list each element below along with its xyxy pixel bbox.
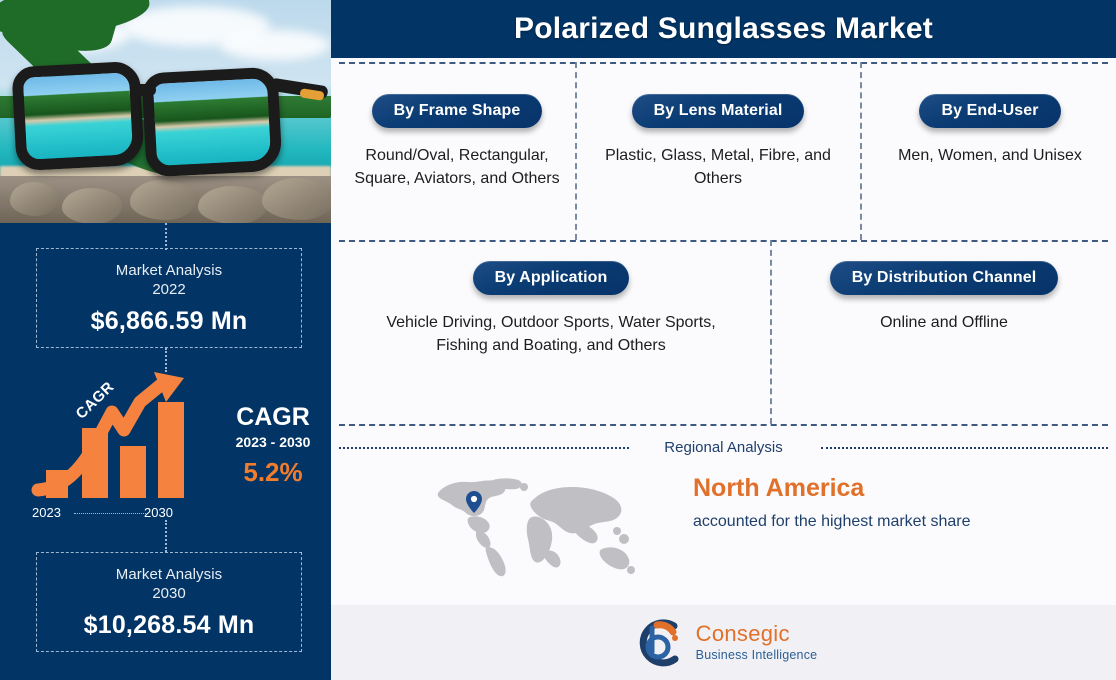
market-2030-title: Market Analysis — [37, 553, 301, 584]
segment-label-distribution-channel[interactable]: By Distribution Channel — [830, 261, 1059, 295]
market-2022-value: $6,866.59 Mn — [37, 299, 301, 348]
world-map-icon — [426, 473, 651, 583]
segment-label-frame-shape[interactable]: By Frame Shape — [372, 94, 543, 128]
divider-v-1 — [575, 62, 577, 240]
map-pin-icon — [466, 491, 482, 513]
region-description: accounted for the highest market share — [693, 510, 1093, 533]
page-title: Polarized Sunglasses Market — [514, 12, 933, 46]
market-analysis-2022-box: Market Analysis 2022 $6,866.59 Mn — [36, 248, 302, 348]
region-highlight: North America accounted for the highest … — [693, 471, 1093, 533]
segment-body-distribution-channel: Online and Offline — [783, 311, 1105, 334]
glasses-bridge — [130, 84, 156, 96]
right-lens-view — [153, 78, 271, 166]
rock-shape — [62, 188, 122, 223]
hero-sunglasses-photo — [0, 0, 331, 223]
cagr-chart: CAGR 2023 2030 CAGR 2023 - 2030 5.2% — [28, 368, 318, 520]
market-analysis-2030-box: Market Analysis 2030 $10,268.54 Mn — [36, 552, 302, 652]
divider-v-3 — [770, 240, 772, 424]
segment-label-lens-material[interactable]: By Lens Material — [632, 94, 805, 128]
market-2030-value: $10,268.54 Mn — [37, 603, 301, 652]
logo-glyph — [630, 616, 684, 670]
segment-body-application: Vehicle Driving, Outdoor Sports, Water S… — [381, 311, 721, 357]
rock-shape — [198, 186, 268, 223]
rock-shape — [262, 178, 331, 220]
right-lens — [141, 67, 282, 178]
left-lens — [11, 61, 144, 172]
segmentation-area: By Frame Shape Round/Oval, Rectangular, … — [331, 58, 1116, 425]
cagr-readout: CAGR 2023 - 2030 5.2% — [214, 402, 332, 492]
divider-top — [339, 62, 1108, 64]
segment-by-lens-material[interactable]: By Lens Material Plastic, Glass, Metal, … — [587, 94, 849, 190]
world-map-graphic — [426, 473, 651, 583]
cagr-range: 2023 - 2030 — [214, 432, 332, 452]
segment-by-application[interactable]: By Application Vehicle Driving, Outdoor … — [381, 261, 721, 357]
cagr-growth-arrow-icon — [28, 368, 218, 508]
market-2022-title: Market Analysis — [37, 249, 301, 280]
cagr-value: 5.2% — [214, 452, 332, 492]
segment-body-end-user: Men, Women, and Unisex — [872, 144, 1108, 167]
left-panel: Market Analysis 2022 $6,866.59 Mn CAGR 2… — [0, 0, 331, 680]
cagr-axis-end: 2030 — [144, 505, 173, 520]
segment-by-frame-shape[interactable]: By Frame Shape Round/Oval, Rectangular, … — [339, 94, 575, 190]
segment-body-lens-material: Plastic, Glass, Metal, Fibre, and Others — [587, 144, 849, 190]
region-name: North America — [693, 471, 1093, 505]
sunglasses-graphic — [8, 58, 323, 183]
segment-body-frame-shape: Round/Oval, Rectangular, Square, Aviator… — [339, 144, 575, 190]
left-lens-view — [23, 72, 133, 159]
connector-line — [165, 520, 167, 552]
divider-v-2 — [860, 62, 862, 240]
rock-shape — [130, 180, 196, 220]
divider-middle — [339, 240, 1108, 242]
market-2022-year: 2022 — [37, 280, 301, 299]
brand-name: Consegic — [696, 623, 818, 645]
segment-label-end-user[interactable]: By End-User — [919, 94, 1060, 128]
regional-analysis-label: Regional Analysis — [331, 439, 1116, 456]
rock-shape — [10, 182, 58, 216]
brand-tagline: Business Intelligence — [696, 649, 818, 662]
title-bar: Polarized Sunglasses Market — [331, 0, 1116, 58]
market-2030-year: 2030 — [37, 584, 301, 603]
cagr-axis-start: 2023 — [32, 505, 61, 520]
cloud-shape — [220, 30, 330, 60]
consegic-logo-text: Consegic Business Intelligence — [696, 623, 818, 662]
right-panel: Polarized Sunglasses Market By Frame Sha… — [331, 0, 1116, 680]
segment-by-end-user[interactable]: By End-User Men, Women, and Unisex — [872, 94, 1108, 167]
cagr-axis-connector — [74, 513, 146, 514]
regional-analysis-label-text: Regional Analysis — [650, 439, 796, 456]
rocks-foreground — [0, 176, 331, 223]
cagr-heading: CAGR — [214, 402, 332, 432]
consegic-logo-icon — [630, 616, 684, 670]
infographic-root: Market Analysis 2022 $6,866.59 Mn CAGR 2… — [0, 0, 1116, 680]
segment-by-distribution-channel[interactable]: By Distribution Channel Online and Offli… — [783, 261, 1105, 334]
segment-label-application[interactable]: By Application — [473, 261, 630, 295]
footer-bar: Consegic Business Intelligence — [331, 605, 1116, 680]
regional-analysis-section: Regional Analysis — [331, 425, 1116, 603]
connector-line — [165, 223, 167, 250]
